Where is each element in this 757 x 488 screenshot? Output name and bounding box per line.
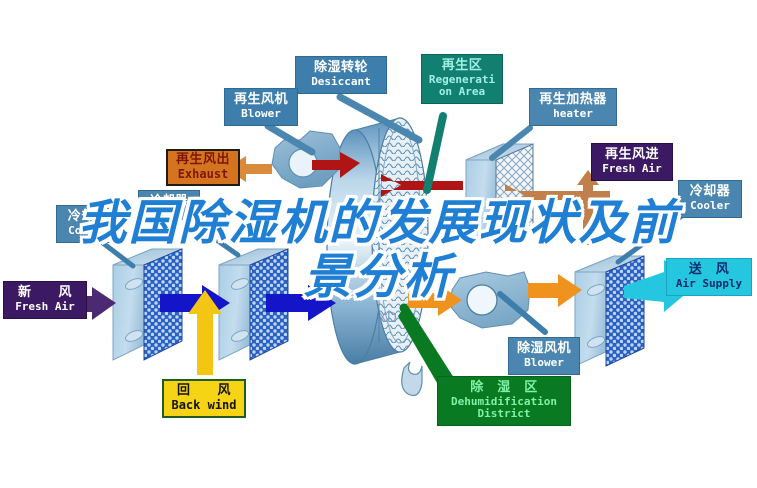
label-dehumidification-blower-en: Blower	[513, 357, 575, 369]
rotor-drive-belt	[402, 362, 422, 396]
label-air-supply-en: Air Supply	[670, 278, 748, 290]
label-cooler-right[interactable]: 冷却器 Cooler	[678, 180, 742, 218]
watermark-text: XD	[378, 311, 397, 326]
label-dehumidification-district-en-2: District	[442, 408, 566, 420]
label-regeneration-fresh-air-cn: 再生风进	[596, 148, 668, 163]
label-air-supply-cn: 送 风	[670, 263, 748, 278]
label-regeneration-fresh-air[interactable]: 再生风进 Fresh Air	[591, 143, 673, 181]
cooler-coil-right	[575, 256, 644, 366]
label-regeneration-heater-en: heater	[534, 108, 612, 120]
label-desiccant-wheel-en: Desiccant	[300, 76, 382, 88]
label-desiccant-wheel[interactable]: 除湿转轮 Desiccant	[295, 56, 387, 94]
label-dehumidification-blower-cn: 除湿风机	[513, 342, 575, 357]
label-fresh-air-en: Fresh Air	[8, 301, 82, 313]
label-regeneration-area-cn: 再生区	[425, 59, 499, 74]
label-cooler-right-cn: 冷却器	[682, 185, 738, 200]
label-air-supply[interactable]: 送 风 Air Supply	[666, 258, 752, 296]
label-back-wind-en: Back wind	[167, 399, 241, 412]
regeneration-blower-housing	[272, 131, 340, 188]
label-regeneration-heater-cn: 再生加热器	[534, 93, 612, 108]
label-regeneration-area-en-1: Regenerati	[425, 74, 499, 86]
dehumidifier-diagram: XD	[0, 0, 757, 488]
label-cooler-left[interactable]: 冷却器 Cooler	[56, 205, 120, 243]
label-exhaust[interactable]: 再生风出 Exhaust	[166, 149, 240, 186]
label-exhaust-cn: 再生风出	[171, 153, 235, 168]
label-dehumidification-blower[interactable]: 除湿风机 Blower	[508, 337, 580, 375]
label-cooler-left-cn: 冷却器	[60, 210, 116, 225]
label-dehumidification-district[interactable]: 除 湿 区 Dehumidification District	[437, 376, 571, 426]
blower-to-coil-arrow	[528, 274, 582, 307]
label-regeneration-fresh-air-en: Fresh Air	[596, 163, 668, 175]
fresh-air-up-arrow	[577, 170, 599, 245]
label-fresh-air-cn: 新 风	[8, 286, 82, 301]
label-cooler-middle-cn: 冷却器	[142, 194, 196, 207]
label-regeneration-blower[interactable]: 再生风机 Blower	[224, 88, 298, 126]
label-regeneration-area[interactable]: 再生区 Regenerati on Area	[421, 54, 503, 104]
label-regeneration-blower-en: Blower	[229, 108, 293, 120]
label-regeneration-blower-cn: 再生风机	[229, 93, 293, 108]
label-desiccant-wheel-cn: 除湿转轮	[300, 61, 382, 76]
label-cooler-middle[interactable]: 冷却器	[138, 190, 200, 220]
label-fresh-air[interactable]: 新 风 Fresh Air	[3, 281, 87, 319]
label-back-wind[interactable]: 回 风 Back wind	[162, 379, 246, 418]
label-dehumidification-district-cn: 除 湿 区	[442, 381, 566, 396]
label-cooler-left-en: Cooler	[60, 225, 116, 237]
label-dehumidification-district-en-1: Dehumidification	[442, 396, 566, 408]
label-cooler-right-en: Cooler	[682, 200, 738, 212]
label-back-wind-cn: 回 风	[167, 384, 241, 399]
label-regeneration-heater[interactable]: 再生加热器 heater	[529, 88, 617, 126]
label-exhaust-en: Exhaust	[171, 168, 235, 181]
label-regeneration-area-en-2: on Area	[425, 86, 499, 98]
